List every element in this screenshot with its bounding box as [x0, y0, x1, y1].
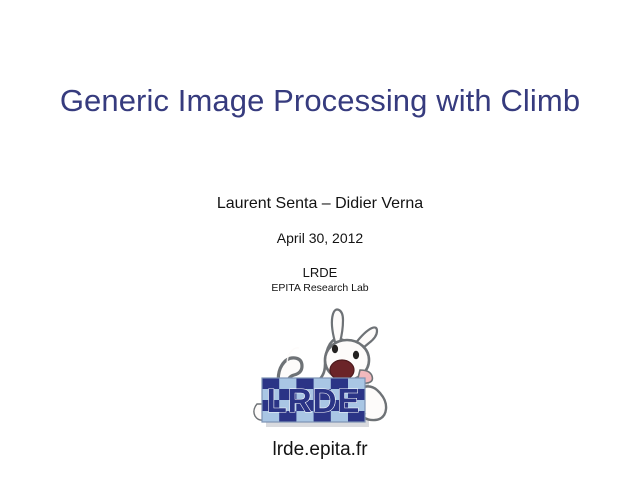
lab-acronym: LRDE [0, 264, 640, 281]
presentation-slide: Generic Image Processing with Climb Laur… [0, 0, 640, 480]
lrde-block-letters: LRDE [267, 382, 361, 419]
mascot-eye-right-icon [353, 351, 359, 359]
lab-full-name: EPITA Research Lab [0, 281, 640, 296]
mascot-mouth-icon [330, 360, 354, 380]
slide-date: April 30, 2012 [0, 229, 640, 248]
slide-authors: Laurent Senta – Didier Verna [0, 193, 640, 214]
lrde-logo: LRDE [243, 300, 408, 432]
slide-title: Generic Image Processing with Climb [0, 82, 640, 120]
website-url: lrde.epita.fr [0, 437, 640, 462]
mascot-eye-left-icon [332, 345, 338, 353]
